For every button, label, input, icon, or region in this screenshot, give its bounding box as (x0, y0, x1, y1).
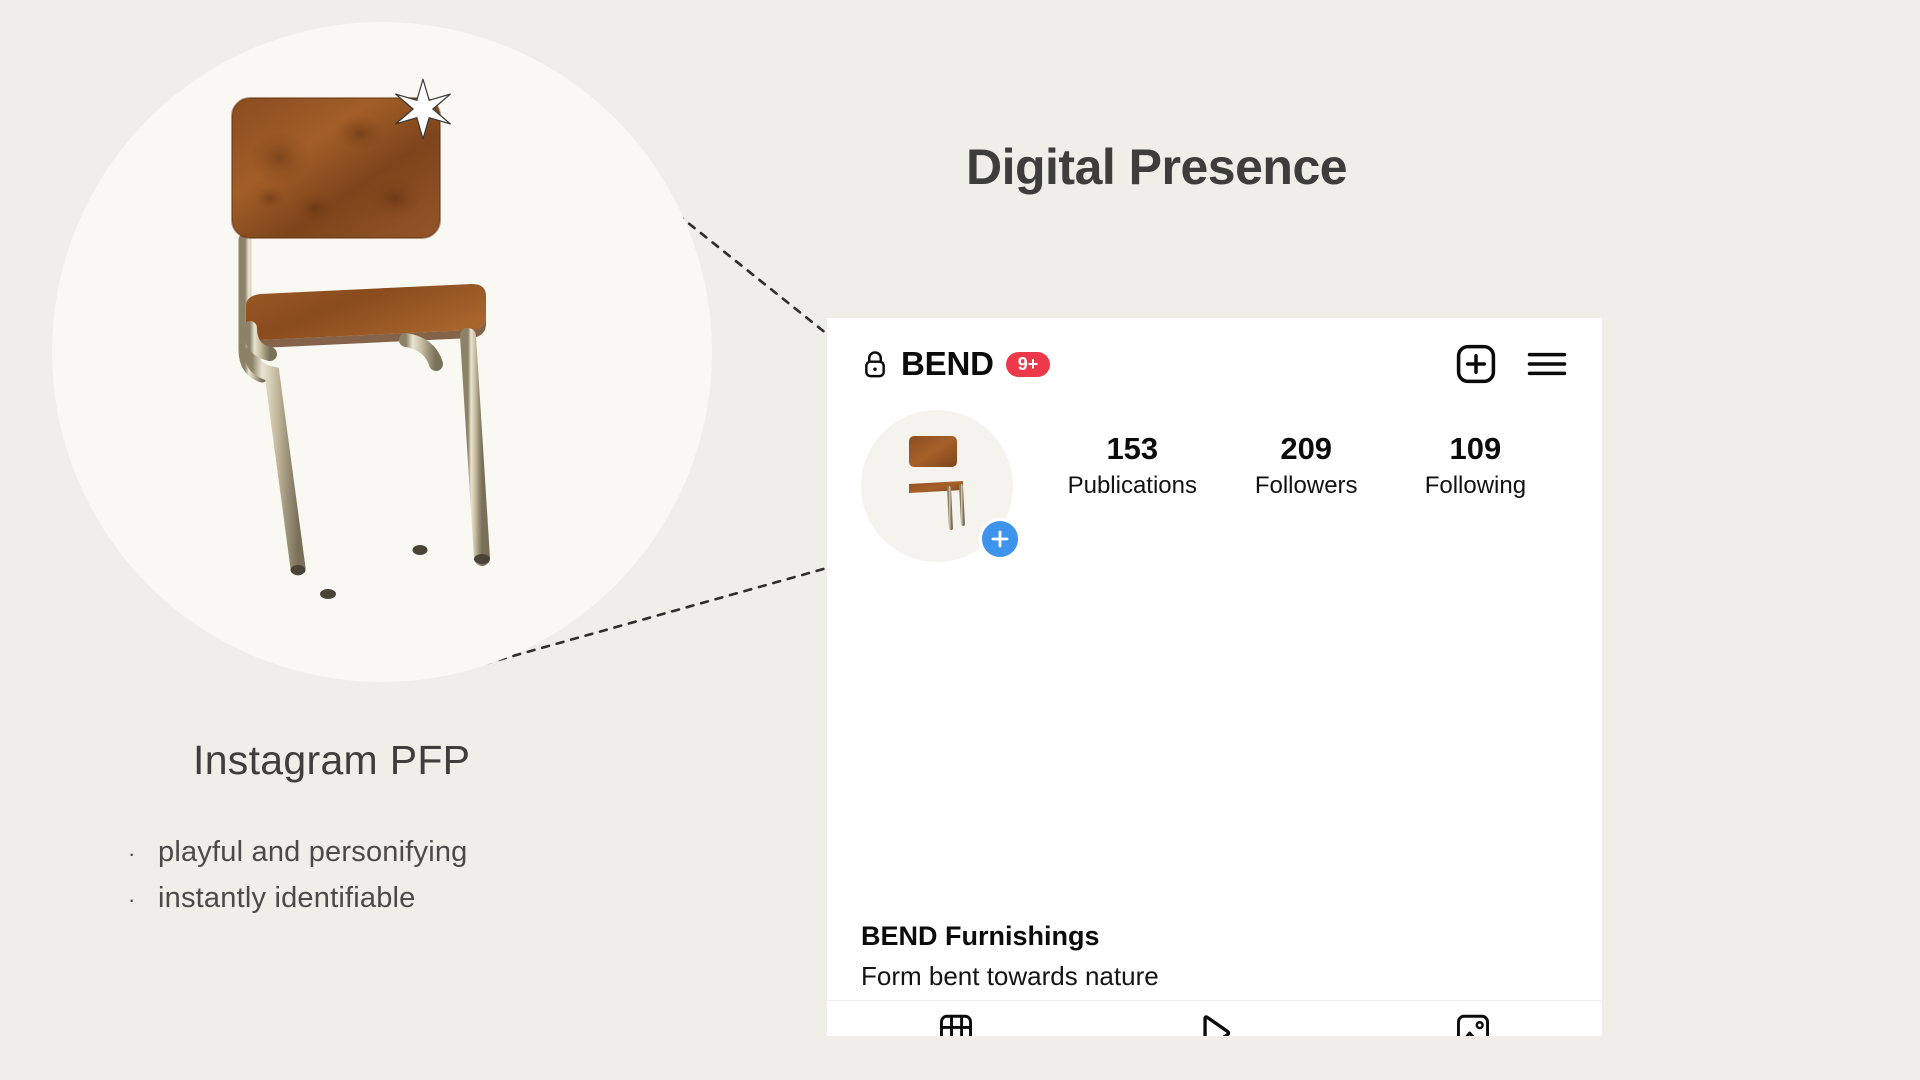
pfp-panel-title: Instagram PFP (193, 737, 470, 784)
stat-following[interactable]: 109 Following (1415, 432, 1535, 500)
stat-value: 209 (1246, 432, 1366, 466)
stat-label: Publications (1068, 472, 1197, 500)
tab-tagged[interactable] (1344, 1001, 1602, 1036)
plus-circle-icon[interactable] (979, 518, 1021, 560)
profile-tabs (827, 1000, 1602, 1036)
bullet-marker-icon: · (128, 831, 136, 876)
photo-icon (1456, 1014, 1490, 1036)
tab-grid[interactable] (827, 1001, 1085, 1036)
chair-illustration (210, 88, 510, 613)
avatar-chair-illustration (897, 432, 975, 542)
bullet-marker-icon: · (128, 877, 136, 922)
profile-bio-block: BEND Furnishings Form bent towards natur… (861, 920, 1159, 992)
notification-badge: 9+ (1006, 352, 1051, 377)
list-item-label: instantly identifiable (158, 876, 416, 921)
play-icon (1195, 1014, 1233, 1036)
instagram-profile-card: BEND 9+ (827, 318, 1602, 1036)
grid-icon (939, 1014, 973, 1036)
profile-username: BEND (901, 345, 994, 383)
stat-followers[interactable]: 209 Followers (1246, 432, 1366, 500)
profile-identity-row: 153 Publications 209 Followers 109 Follo… (827, 410, 1602, 562)
list-item-label: playful and personifying (158, 830, 468, 875)
stat-publications[interactable]: 153 Publications (1068, 432, 1197, 500)
plus-square-icon[interactable] (1456, 344, 1496, 384)
list-item: · playful and personifying (128, 830, 468, 876)
page-title: Digital Presence (966, 138, 1347, 196)
stat-value: 153 (1068, 432, 1197, 466)
tab-reels[interactable] (1085, 1001, 1343, 1036)
profile-bio-text: Form bent towards nature (861, 961, 1159, 992)
lock-icon (861, 349, 889, 379)
username-group[interactable]: BEND 9+ (861, 345, 1050, 383)
stat-value: 109 (1415, 432, 1535, 466)
avatar[interactable] (861, 410, 1013, 562)
slide-canvas: Instagram PFP · playful and personifying… (0, 0, 1920, 1080)
hamburger-menu-icon[interactable] (1526, 347, 1568, 381)
header-actions (1456, 344, 1568, 384)
sparkle-star-icon (392, 78, 454, 140)
stat-label: Following (1415, 472, 1535, 500)
stat-label: Followers (1246, 472, 1366, 500)
profile-full-name: BEND Furnishings (861, 920, 1159, 952)
pfp-bullet-list: · playful and personifying · instantly i… (128, 830, 468, 922)
list-item: · instantly identifiable (128, 876, 468, 922)
instagram-header: BEND 9+ (827, 318, 1602, 410)
profile-stats: 153 Publications 209 Followers 109 Follo… (1013, 410, 1568, 500)
